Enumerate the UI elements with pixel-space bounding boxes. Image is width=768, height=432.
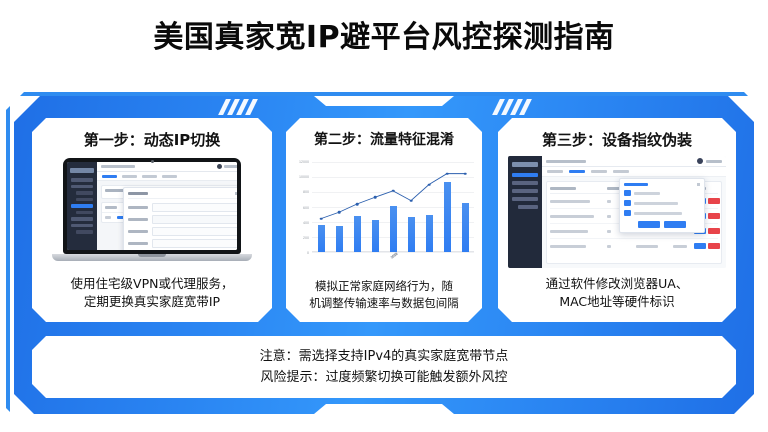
y-axis-tick-label: 12000 <box>299 160 309 164</box>
decorative-slashes-right <box>496 99 528 115</box>
delete-button[interactable] <box>708 213 720 219</box>
y-axis-tick-label: 400 <box>303 221 309 225</box>
console-header <box>97 162 237 172</box>
popover-item[interactable] <box>624 200 700 206</box>
sidebar-item[interactable] <box>512 189 538 193</box>
header-right <box>217 164 237 169</box>
popover-item-label <box>634 202 678 205</box>
delete-button[interactable] <box>708 228 720 234</box>
tab[interactable] <box>613 170 629 173</box>
step-1-caption-line1: 使用住宅级VPN或代理服务， <box>71 276 234 291</box>
checkbox-icon[interactable] <box>624 200 631 206</box>
sidebar-item-active[interactable] <box>71 204 93 208</box>
form-row[interactable] <box>128 215 237 224</box>
popover-title <box>624 183 648 186</box>
step-2-media: 1200010000800600400200020162017201820192… <box>286 156 482 268</box>
select-input[interactable] <box>152 215 237 224</box>
y-axis-tick-label: 10000 <box>299 175 309 179</box>
checkbox-icon[interactable] <box>624 190 631 196</box>
footer-risk: 风险提示：过度频繁切换可能触发额外风控 <box>260 367 507 388</box>
sidebar-item[interactable] <box>512 181 538 185</box>
modal-title <box>128 192 148 195</box>
admin-sidebar[interactable] <box>508 156 542 268</box>
step-2-caption-line2: 机调整传输速率与数据包间隔 <box>309 296 459 310</box>
tab[interactable] <box>142 175 157 178</box>
tab[interactable] <box>591 170 607 173</box>
field-label <box>128 206 148 209</box>
step-2-caption-line1: 模拟正常家庭网络行为，随 <box>315 279 453 293</box>
column-header <box>105 206 117 209</box>
line-point[interactable] <box>374 196 377 199</box>
sidebar-item[interactable] <box>512 197 538 201</box>
step-2-title: 第二步：流量特征混淆 <box>286 129 482 149</box>
admin-logo <box>512 162 538 167</box>
sidebar-item[interactable] <box>76 230 93 234</box>
step-3-caption-line2: MAC地址等硬件标识 <box>559 294 674 309</box>
admin-tabs[interactable] <box>542 167 726 177</box>
console-tabs[interactable] <box>97 172 237 181</box>
laptop-illustration <box>63 158 241 261</box>
field-label <box>128 230 148 233</box>
console-main <box>97 162 237 250</box>
sidebar-item[interactable] <box>71 224 93 228</box>
laptop-base <box>52 254 252 261</box>
y-axis-tick-label: 600 <box>303 206 309 210</box>
line-point[interactable] <box>392 190 395 193</box>
admin-console-illustration <box>508 156 726 268</box>
line-point[interactable] <box>338 211 341 214</box>
sidebar-item[interactable] <box>71 178 93 182</box>
close-icon[interactable] <box>697 183 700 186</box>
sidebar-item[interactable] <box>518 205 538 209</box>
step-3-caption-line1: 通过软件修改浏览器UA、 <box>546 276 689 291</box>
line-point[interactable] <box>446 172 449 175</box>
delete-button[interactable] <box>708 243 720 249</box>
delete-button[interactable] <box>708 198 720 204</box>
tab[interactable] <box>547 170 563 173</box>
breadcrumb <box>546 160 586 163</box>
popover-item-label <box>634 192 660 195</box>
step-card-1: 第一步：动态IP切换 <box>32 118 272 322</box>
popover-item[interactable] <box>624 190 700 196</box>
sidebar-item[interactable] <box>76 211 93 215</box>
modal-header <box>128 192 237 199</box>
row-cell <box>105 216 111 219</box>
line-point[interactable] <box>320 217 323 220</box>
avatar[interactable] <box>217 164 222 169</box>
sidebar-item[interactable] <box>71 217 93 221</box>
username-label <box>224 165 237 168</box>
console-sidebar[interactable] <box>67 162 97 250</box>
sidebar-item[interactable] <box>76 198 93 202</box>
confirm-button[interactable] <box>638 221 660 228</box>
field-label <box>128 218 148 221</box>
admin-header <box>542 156 726 167</box>
poster-root: 美国真家宽IP避平台风控探测指南 第一步：动态IP切换 <box>0 0 768 432</box>
chart-plot-area: 1200010000800600400200020162017201820192… <box>312 162 474 252</box>
popover-item[interactable] <box>624 210 700 216</box>
popover-item-label <box>634 212 682 215</box>
footer-notes: 注意：需选择支持IPv4的真实家庭宽带节点 风险提示：过度频繁切换可能触发额外风… <box>32 336 736 398</box>
laptop-lid <box>63 158 241 254</box>
decorative-slashes-left <box>222 99 254 115</box>
console-body <box>97 181 237 250</box>
step-3-caption: 通过软件修改浏览器UA、 MAC地址等硬件标识 <box>506 275 728 313</box>
sidebar-item[interactable] <box>71 185 93 189</box>
admin-main <box>542 156 726 268</box>
checkbox-icon[interactable] <box>624 210 631 216</box>
line-series <box>312 162 474 252</box>
cancel-button[interactable] <box>664 221 686 228</box>
popover-actions <box>624 221 700 228</box>
line-point[interactable] <box>428 183 431 186</box>
step-card-3: 第三步：设备指纹伪装 <box>498 118 736 322</box>
form-row[interactable] <box>128 239 237 248</box>
popover-header <box>624 183 700 186</box>
table-row[interactable] <box>550 239 718 253</box>
close-icon[interactable] <box>235 192 237 195</box>
footer-note: 注意：需选择支持IPv4的真实家庭宽带节点 <box>260 346 509 367</box>
sidebar-item[interactable] <box>76 191 93 195</box>
username-label <box>706 160 722 163</box>
sidebar-item-active[interactable] <box>512 173 538 177</box>
row-actions[interactable] <box>694 243 720 249</box>
step-card-2: 第二步：流量特征混淆 12000100008006004002000201620… <box>286 118 482 322</box>
form-row[interactable] <box>128 203 237 212</box>
step-3-media <box>498 156 736 268</box>
line-point[interactable] <box>464 172 467 175</box>
breadcrumb <box>101 165 135 168</box>
step-1-caption: 使用住宅级VPN或代理服务， 定期更换真实家庭宽带IP <box>40 275 264 313</box>
step-3-title: 第三步：设备指纹伪装 <box>498 129 736 150</box>
avatar[interactable] <box>697 158 703 164</box>
page-title: 美国真家宽IP避平台风控探测指南 <box>0 12 768 56</box>
fingerprint-popover[interactable] <box>619 178 705 233</box>
line-point[interactable] <box>410 199 413 202</box>
line-point[interactable] <box>356 203 359 206</box>
header-right <box>697 158 722 164</box>
form-row[interactable] <box>128 227 237 236</box>
step-1-title: 第一步：动态IP切换 <box>32 129 272 150</box>
edit-button[interactable] <box>694 243 706 249</box>
table-header-cell <box>550 187 607 190</box>
step-1-media <box>32 156 272 268</box>
text-input[interactable] <box>152 239 237 248</box>
tab-active[interactable] <box>102 175 117 178</box>
tab-active[interactable] <box>569 170 585 173</box>
edit-modal[interactable] <box>123 187 237 250</box>
tab[interactable] <box>122 175 137 178</box>
text-input[interactable] <box>152 203 237 212</box>
y-axis-tick-label: 800 <box>303 190 309 194</box>
y-axis-tick-label: 0 <box>307 251 309 255</box>
tab[interactable] <box>162 175 177 178</box>
text-input[interactable] <box>152 227 237 236</box>
console-logo <box>70 168 94 173</box>
laptop-screen <box>67 162 237 250</box>
step-1-caption-line2: 定期更换真实家庭宽带IP <box>84 294 220 309</box>
field-label <box>128 242 148 245</box>
step-2-caption: 模拟正常家庭网络行为，随 机调整传输速率与数据包间隔 <box>294 278 474 313</box>
y-axis-tick-label: 200 <box>303 236 309 240</box>
traffic-combo-chart: 1200010000800600400200020162017201820192… <box>290 156 478 268</box>
